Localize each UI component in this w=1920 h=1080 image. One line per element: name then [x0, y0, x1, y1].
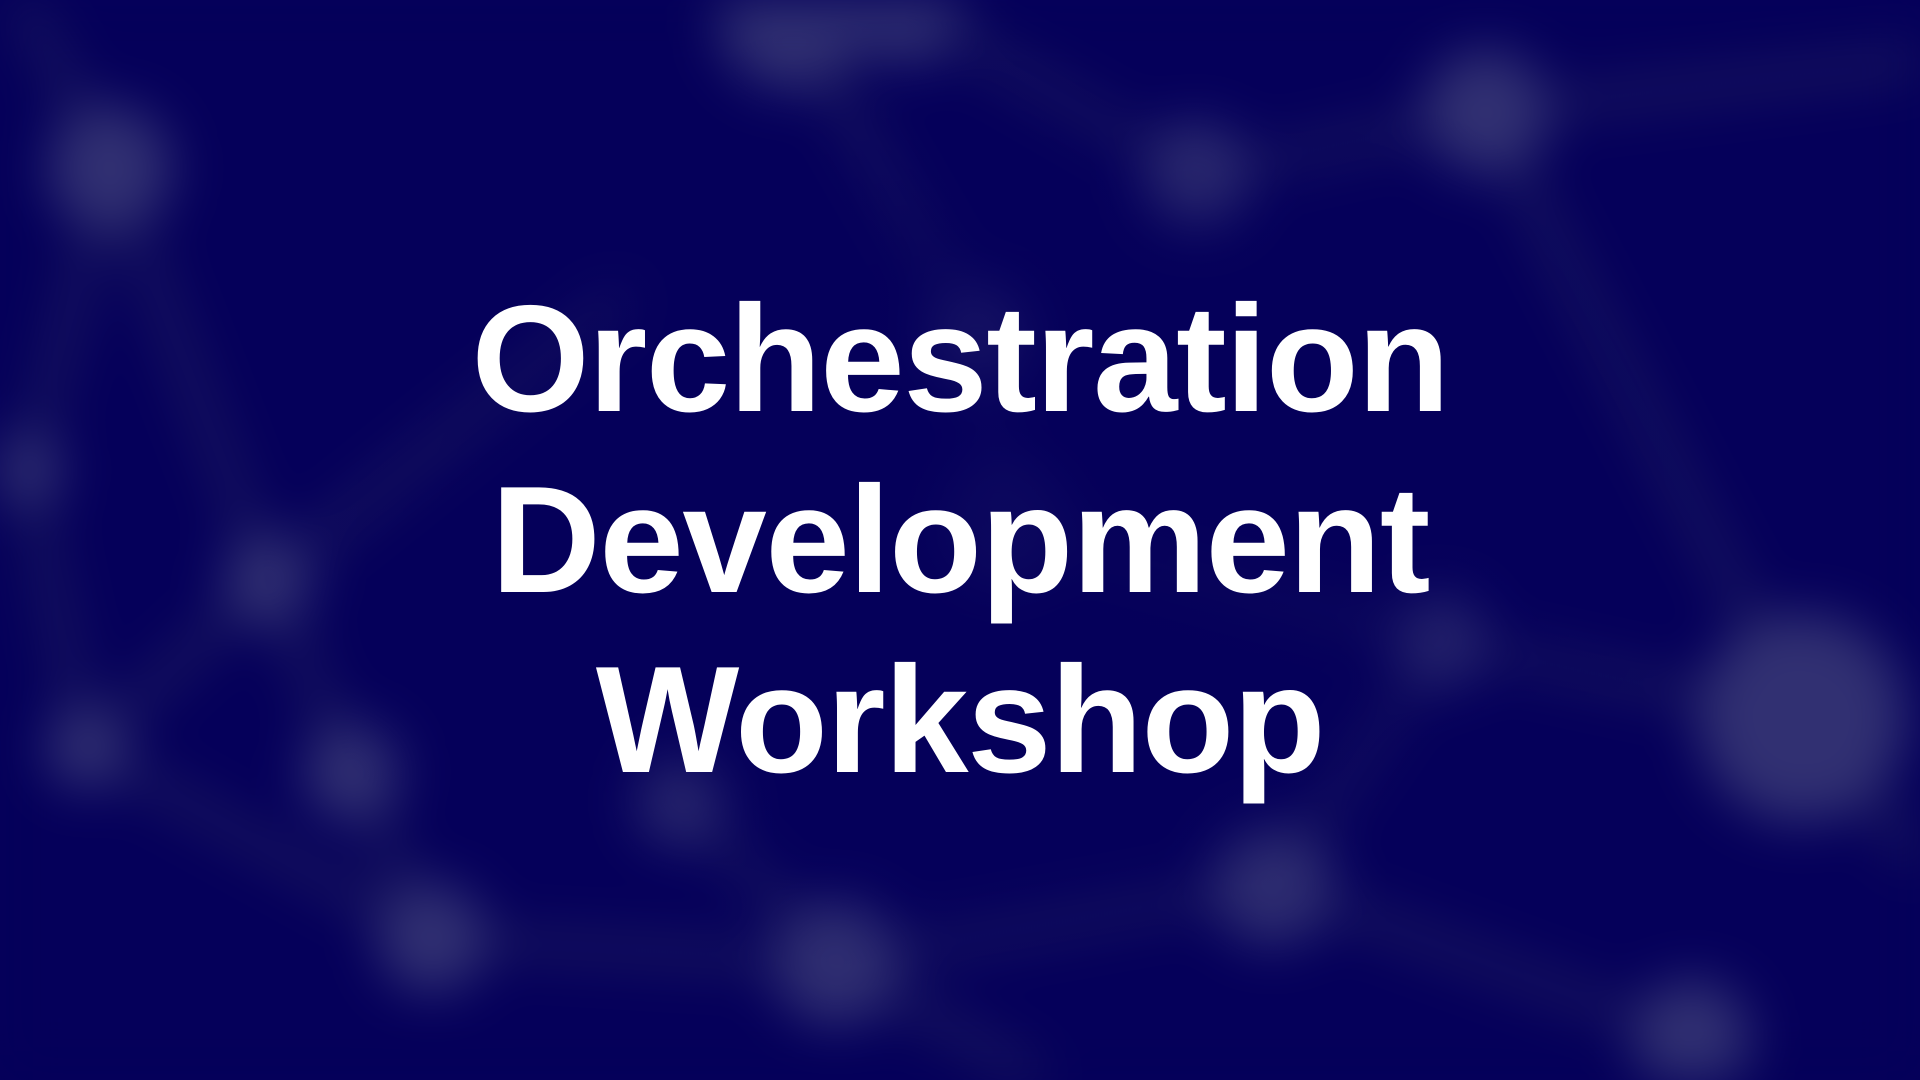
title-slide: Orchestration Development Workshop: [0, 0, 1920, 1080]
title-line-1: Orchestration: [471, 269, 1448, 450]
title-line-2: Development: [491, 450, 1429, 631]
page-title: Orchestration Development Workshop: [0, 0, 1920, 1080]
title-line-3: Workshop: [596, 630, 1324, 811]
